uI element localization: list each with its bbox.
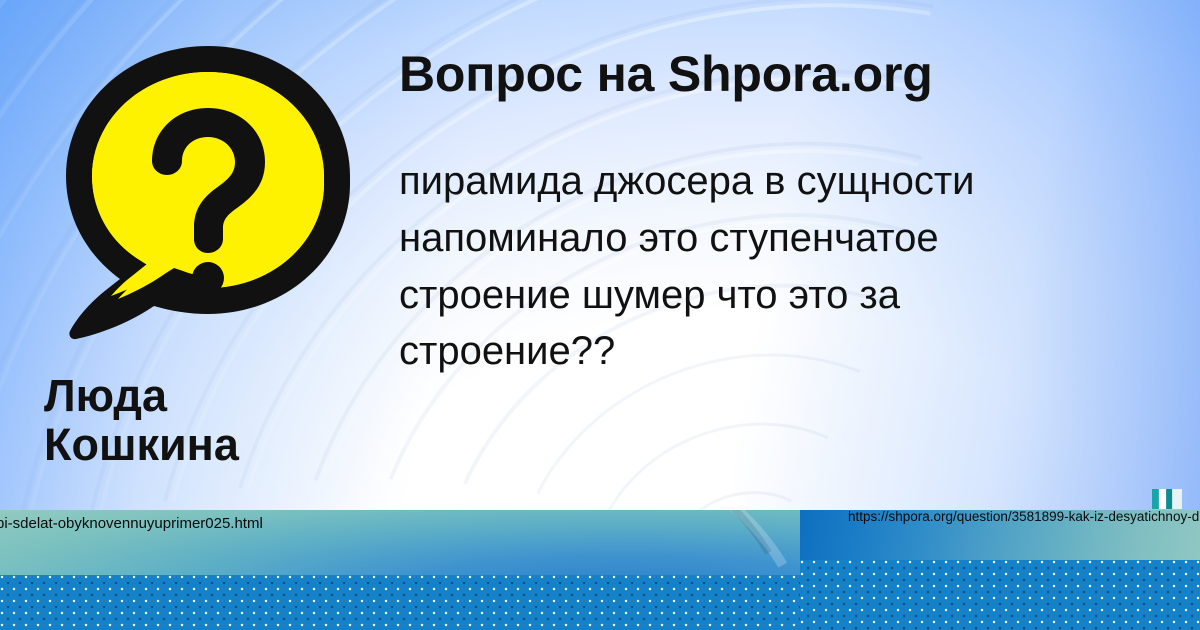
question-line: строение??	[399, 323, 1199, 380]
dotted-band-right	[800, 560, 1200, 630]
author-name-line: Кошкина	[44, 421, 384, 470]
question-text: пирамида джосера в сущности напоминало э…	[399, 153, 1199, 380]
page-title: Вопрос на Shpora.org	[399, 48, 1099, 101]
share-card: Вопрос на Shpora.org пирамида джосера в …	[0, 0, 1200, 630]
question-line: пирамида джосера в сущности	[399, 153, 1199, 210]
dotted-band-left	[0, 575, 800, 630]
footer-url-right[interactable]: https://shpora.org/question/3581899-kak-…	[848, 509, 1200, 524]
question-line: строение шумер что это за	[399, 267, 1199, 324]
question-line: напоминало это ступенчатое	[399, 210, 1199, 267]
author-name-line: Люда	[44, 372, 384, 421]
pixel-artifact	[1152, 489, 1182, 509]
question-speech-bubble-icon	[48, 38, 368, 358]
footer-url-left[interactable]: bi-sdelat-obyknovennuyuprimer025.html	[0, 515, 416, 532]
author-name: Люда Кошкина	[44, 372, 384, 469]
